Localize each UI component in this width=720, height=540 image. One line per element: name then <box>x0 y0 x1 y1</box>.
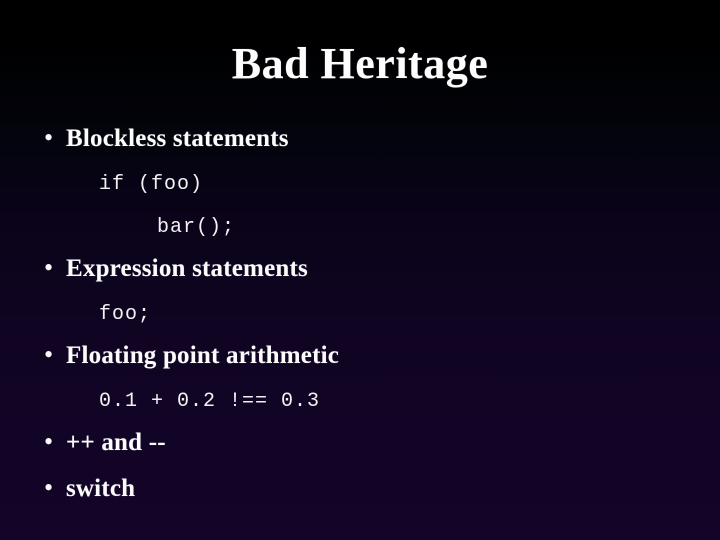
code-line: if (foo) <box>0 168 720 211</box>
code-line: bar(); <box>0 211 720 254</box>
presentation-slide: Bad Heritage • Blockless statements if (… <box>0 0 720 540</box>
slide-body: • Blockless statements if (foo) bar(); •… <box>0 124 720 520</box>
code-line: foo; <box>0 298 720 341</box>
bullet-label: switch <box>66 474 135 504</box>
bullet-label: Floating point arithmetic <box>66 341 339 371</box>
bullet-label: Blockless statements <box>66 124 289 154</box>
bullet-label: Expression statements <box>66 254 308 284</box>
bullet-point-icon: • <box>44 125 66 151</box>
bullet-label: ++ and -- <box>66 428 166 458</box>
bullet-point-icon: • <box>44 342 66 368</box>
code-line: 0.1 + 0.2 !== 0.3 <box>0 385 720 428</box>
bullet-point-icon: • <box>44 255 66 281</box>
slide-title: Bad Heritage <box>0 38 720 90</box>
bullet-item: • Blockless statements <box>0 124 720 168</box>
bullet-item: • Expression statements <box>0 254 720 298</box>
bullet-item: • switch <box>0 474 720 520</box>
bullet-point-icon: • <box>44 475 66 501</box>
bullet-item: • Floating point arithmetic <box>0 341 720 385</box>
bullet-item: • ++ and -- <box>0 428 720 474</box>
bullet-point-icon: • <box>44 429 66 455</box>
